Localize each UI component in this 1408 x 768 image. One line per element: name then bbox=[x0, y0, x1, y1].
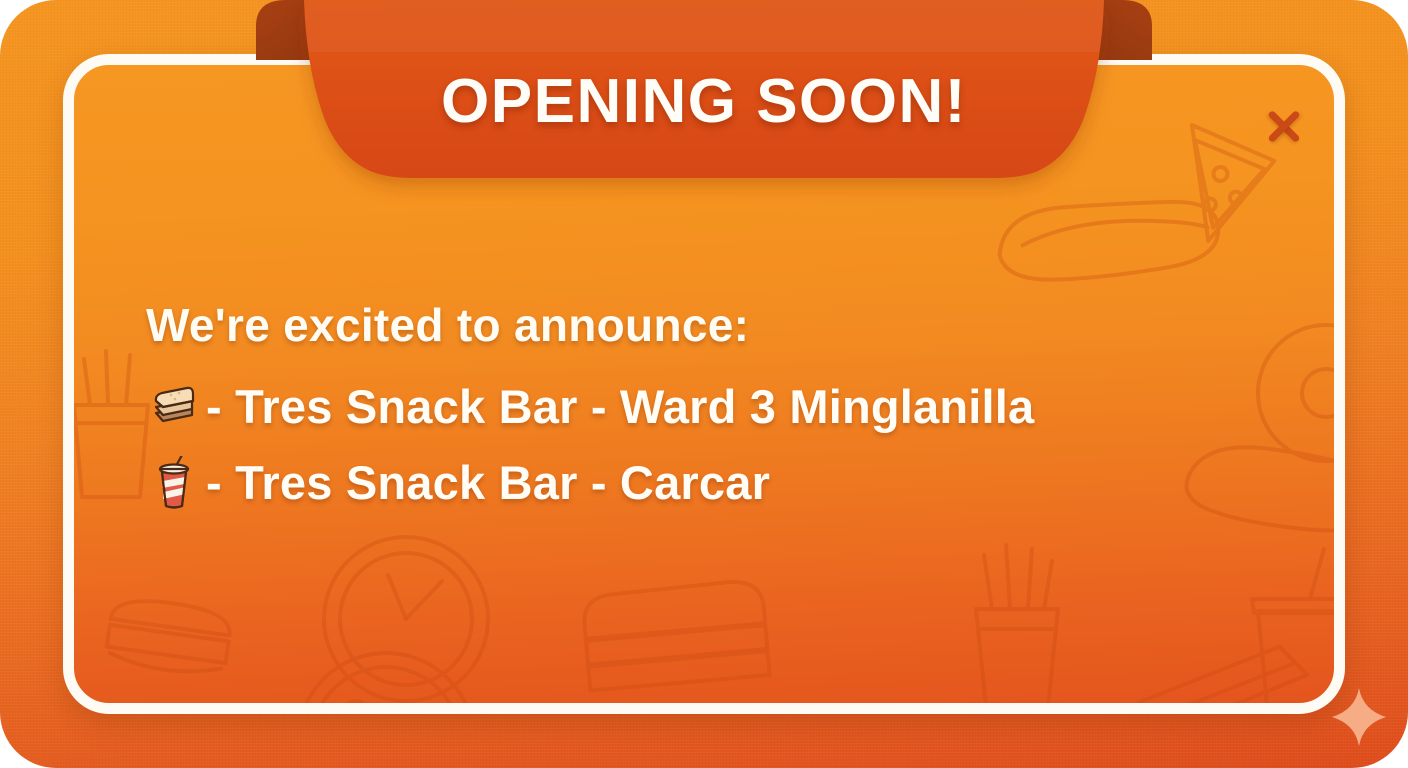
list-item-text: - Tres Snack Bar - Ward 3 Minglanilla bbox=[206, 376, 1034, 438]
list-item: - Tres Snack Bar - Carcar bbox=[146, 452, 1306, 514]
list-item-text: - Tres Snack Bar - Carcar bbox=[206, 452, 770, 514]
sparkle-icon bbox=[1332, 688, 1386, 746]
banner-title: OPENING SOON! bbox=[0, 66, 1408, 137]
promo-card: OPENING SOON! We're excited to announce: bbox=[0, 0, 1408, 768]
announcement-headline: We're excited to announce: bbox=[146, 298, 1306, 352]
popup-screen: OPENING SOON! We're excited to announce: bbox=[0, 0, 1408, 768]
announcement-content: We're excited to announce: bbox=[146, 298, 1306, 528]
drink-cup-icon bbox=[146, 456, 202, 510]
list-item: - Tres Snack Bar - Ward 3 Minglanilla bbox=[146, 376, 1306, 438]
close-button[interactable] bbox=[1258, 100, 1310, 152]
sandwich-icon bbox=[146, 382, 202, 432]
announcement-list: - Tres Snack Bar - Ward 3 Minglanilla bbox=[146, 376, 1306, 514]
